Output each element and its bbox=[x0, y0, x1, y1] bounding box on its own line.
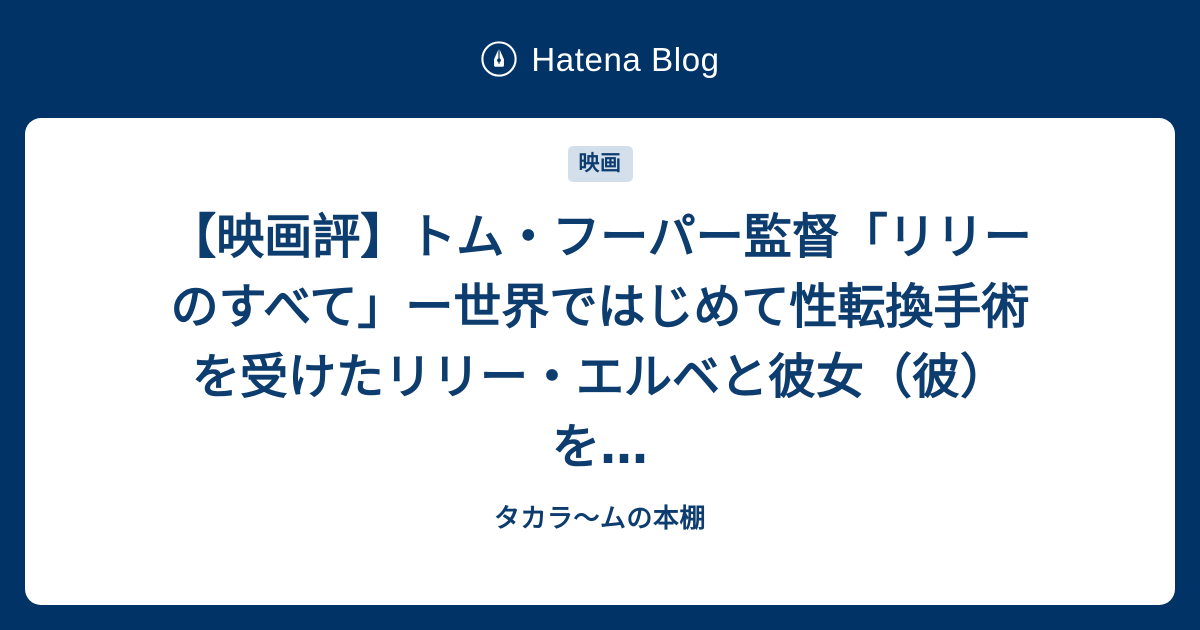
card-content-wrapper: 映画 【映画評】トム・フーパー監督「リリーのすべて」ー世界ではじめて性転換手術を… bbox=[25, 118, 1175, 535]
category-badge[interactable]: 映画 bbox=[568, 146, 633, 182]
entry-title: 【映画評】トム・フーパー監督「リリーのすべて」ー世界ではじめて性転換手術を受けた… bbox=[150, 202, 1050, 482]
blog-name: タカラ〜ムの本棚 bbox=[494, 504, 706, 535]
hatena-blog-brand-bar: Hatena Blog bbox=[0, 0, 1200, 118]
entry-preview-card: 映画 【映画評】トム・フーパー監督「リリーのすべて」ー世界ではじめて性転換手術を… bbox=[25, 118, 1175, 605]
hatena-blog-wordmark: Hatena Blog bbox=[531, 43, 719, 76]
fountain-pen-nib-in-circle-icon bbox=[480, 40, 518, 78]
